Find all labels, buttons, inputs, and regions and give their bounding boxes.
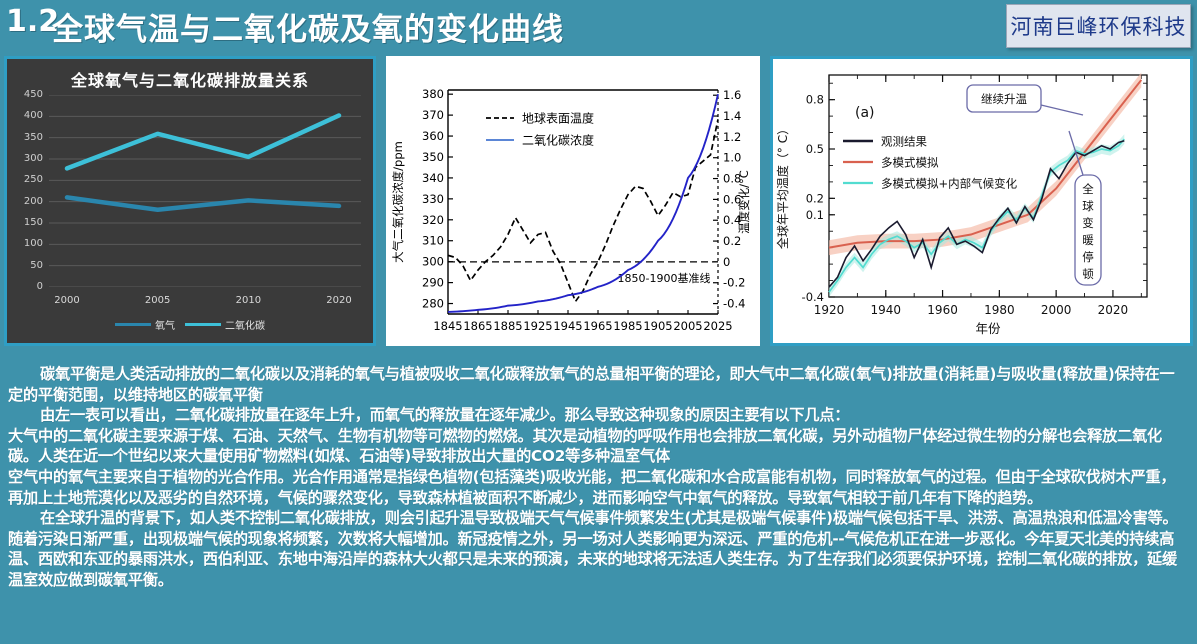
paragraph: 在全球升温的背景下，如人类不控制二氧化碳排放，则会引起升温导致极端天气气候事件频… [8,508,1189,590]
chart2-y2-tick: -0.2 [723,276,745,290]
paragraph: 由左一表可以看出，二氧化碳排放量在逐年上升，而氧气的释放量在逐年减少。那么导致这… [8,405,1189,426]
chart2-x-tick: 1945 [553,319,582,333]
chart-co2-vs-temperature: 280290300310320330340350360370380-0.4-0.… [386,56,760,346]
chart3-y-tick: 0.8 [806,93,824,107]
chart1-y-tick: 100 [13,238,43,249]
chart3-x-tick: 1940 [871,303,902,317]
chart1-legend-item: 氧气 [115,317,175,332]
chart2-y-tick: 280 [422,297,444,311]
chart1-y-tick: 200 [13,196,43,207]
chart1-y-tick: 150 [13,217,43,228]
chart3-panel-letter: (a) [855,105,875,121]
chart3-svg: -0.40.10.20.50.8192019401960198020002020… [773,59,1190,343]
chart2-legend-label: 地球表面温度 [522,111,594,126]
chart2-x-tick: 2005 [673,319,702,333]
chart3-callout-hiatus-char: 顿 [1082,267,1094,281]
chart2-y2-axis-label: 温度变化/°C [737,170,751,234]
chart2-y-tick: 300 [422,255,444,269]
chart2-x-tick: 2025 [703,319,732,333]
chart2-y-axis-label: 大气二氧化碳浓度/ppm [391,141,405,263]
legend-swatch-icon [185,323,221,326]
chart2-x-tick: 1925 [523,319,552,333]
chart3-callout-hiatus-char: 球 [1082,199,1094,213]
chart2-y-tick: 360 [422,129,444,143]
chart1-x-tick: 2010 [236,295,261,306]
chart-oxygen-co2-emissions: 全球氧气与二氧化碳排放量关系 氧气二氧化碳 050100150200250300… [4,56,376,346]
chart3-legend-label: 观测结果 [881,135,927,149]
chart2-x-tick: 1845 [433,319,462,333]
chart2-x-tick: 1885 [493,319,522,333]
paragraph: 空气中的氧气主要来自于植物的光合作用。光合作用通常是指绿色植物(包括藻类)吸收光… [8,467,1189,508]
chart1-legend-item: 二氧化碳 [185,317,265,332]
chart3-y-tick: 0.5 [806,142,824,156]
chart3-x-tick: 1920 [814,303,845,317]
chart2-y2-tick: -0.4 [723,297,745,311]
chart2-y2-tick: 0 [723,255,730,269]
chart3-callout-warming: 继续升温 [981,92,1027,106]
charts-row: 全球氧气与二氧化碳排放量关系 氧气二氧化碳 050100150200250300… [0,56,1197,346]
chart3-callout-hiatus-char: 变 [1082,216,1094,230]
paragraph: 大气中的二氧化碳主要来源于煤、石油、天然气、生物有机物等可燃物的燃烧。其次是动植… [8,426,1189,467]
chart2-x-tick: 1905 [643,319,672,333]
slide-root: 1.2 全球气温与二氧化碳及氧的变化曲线 河南巨峰环保科技 全球氧气与二氧化碳排… [0,0,1197,644]
chart3-y-tick: 0.2 [806,191,824,205]
legend-swatch-icon [115,323,151,326]
company-logo: 河南巨峰环保科技 [1006,4,1191,48]
chart2-y-tick: 380 [422,87,444,101]
chart2-y-tick: 330 [422,192,444,206]
chart-global-temperature-anomaly: -0.40.10.20.50.8192019401960198020002020… [770,56,1193,346]
chart3-x-axis-label: 年份 [975,321,1001,336]
chart3-y-tick: 0.1 [806,208,824,222]
chart2-y-tick: 310 [422,234,444,248]
chart3-callout-hiatus-char: 全 [1082,182,1094,196]
slide-header: 1.2 全球气温与二氧化碳及氧的变化曲线 河南巨峰环保科技 [0,0,1197,54]
chart3-x-tick: 1980 [984,303,1015,317]
chart1-y-tick: 250 [13,174,43,185]
chart1-x-tick: 2005 [145,295,170,306]
chart2-x-tick: 1985 [613,319,642,333]
chart2-y2-tick: 0.2 [723,234,741,248]
chart2-x-tick: 1965 [583,319,612,333]
chart3-legend-label: 多模式模拟+内部气候变化 [881,177,1018,191]
chart1-y-tick: 400 [13,110,43,121]
chart2-y2-tick: 1.0 [723,151,741,165]
chart2-y-tick: 340 [422,171,444,185]
body-text: 碳氧平衡是人类活动排放的二氧化碳以及消耗的氧气与植被吸收二氧化碳释放氧气的总量相… [0,352,1197,644]
chart2-baseline-annotation: 1850-1900基准线 [618,271,711,285]
chart1-legend-label: 二氧化碳 [225,317,265,332]
chart2-svg: 280290300310320330340350360370380-0.4-0.… [386,56,760,346]
chart1-x-tick: 2000 [54,295,79,306]
chart2-y2-tick: 1.6 [723,88,741,102]
chart1-y-tick: 0 [13,281,43,292]
paragraph: 碳氧平衡是人类活动排放的二氧化碳以及消耗的氧气与植被吸收二氧化碳释放氧气的总量相… [8,364,1189,405]
chart3-callout-hiatus-char: 停 [1082,250,1094,264]
chart2-y-tick: 290 [422,276,444,290]
chart1-y-tick: 300 [13,153,43,164]
company-logo-label: 河南巨峰环保科技 [1011,11,1187,41]
chart1-legend: 氧气二氧化碳 [7,317,373,332]
chart1-legend-label: 氧气 [155,317,175,332]
chart3-x-tick: 2020 [1098,303,1129,317]
chart2-x-tick: 1865 [463,319,492,333]
chart2-legend-label: 二氧化碳浓度 [522,133,594,148]
chart2-y2-tick: 1.2 [723,130,741,144]
chart1-y-tick: 450 [13,89,43,100]
chart2-y-tick: 350 [422,150,444,164]
chart3-x-tick: 1960 [927,303,958,317]
chart1-svg [49,95,361,287]
chart2-y-tick: 320 [422,213,444,227]
page-title: 全球气温与二氧化碳及氧的变化曲线 [52,4,564,49]
chart3-legend-label: 多模式模拟 [881,156,939,170]
chart3-y-axis-label: 全球年平均温度（° C） [775,123,790,249]
chart2-y2-tick: 1.4 [723,109,741,123]
chart3-callout-hiatus-char: 暖 [1082,233,1094,247]
chart1-title: 全球氧气与二氧化碳排放量关系 [7,67,373,91]
chart1-y-tick: 350 [13,132,43,143]
chart3-y-tick: -0.4 [802,290,824,304]
chart1-x-tick: 2020 [326,295,351,306]
chart1-y-tick: 50 [13,260,43,271]
chart1-plot-area [49,95,361,287]
chart3-x-tick: 2000 [1041,303,1072,317]
chart2-y-tick: 370 [422,108,444,122]
